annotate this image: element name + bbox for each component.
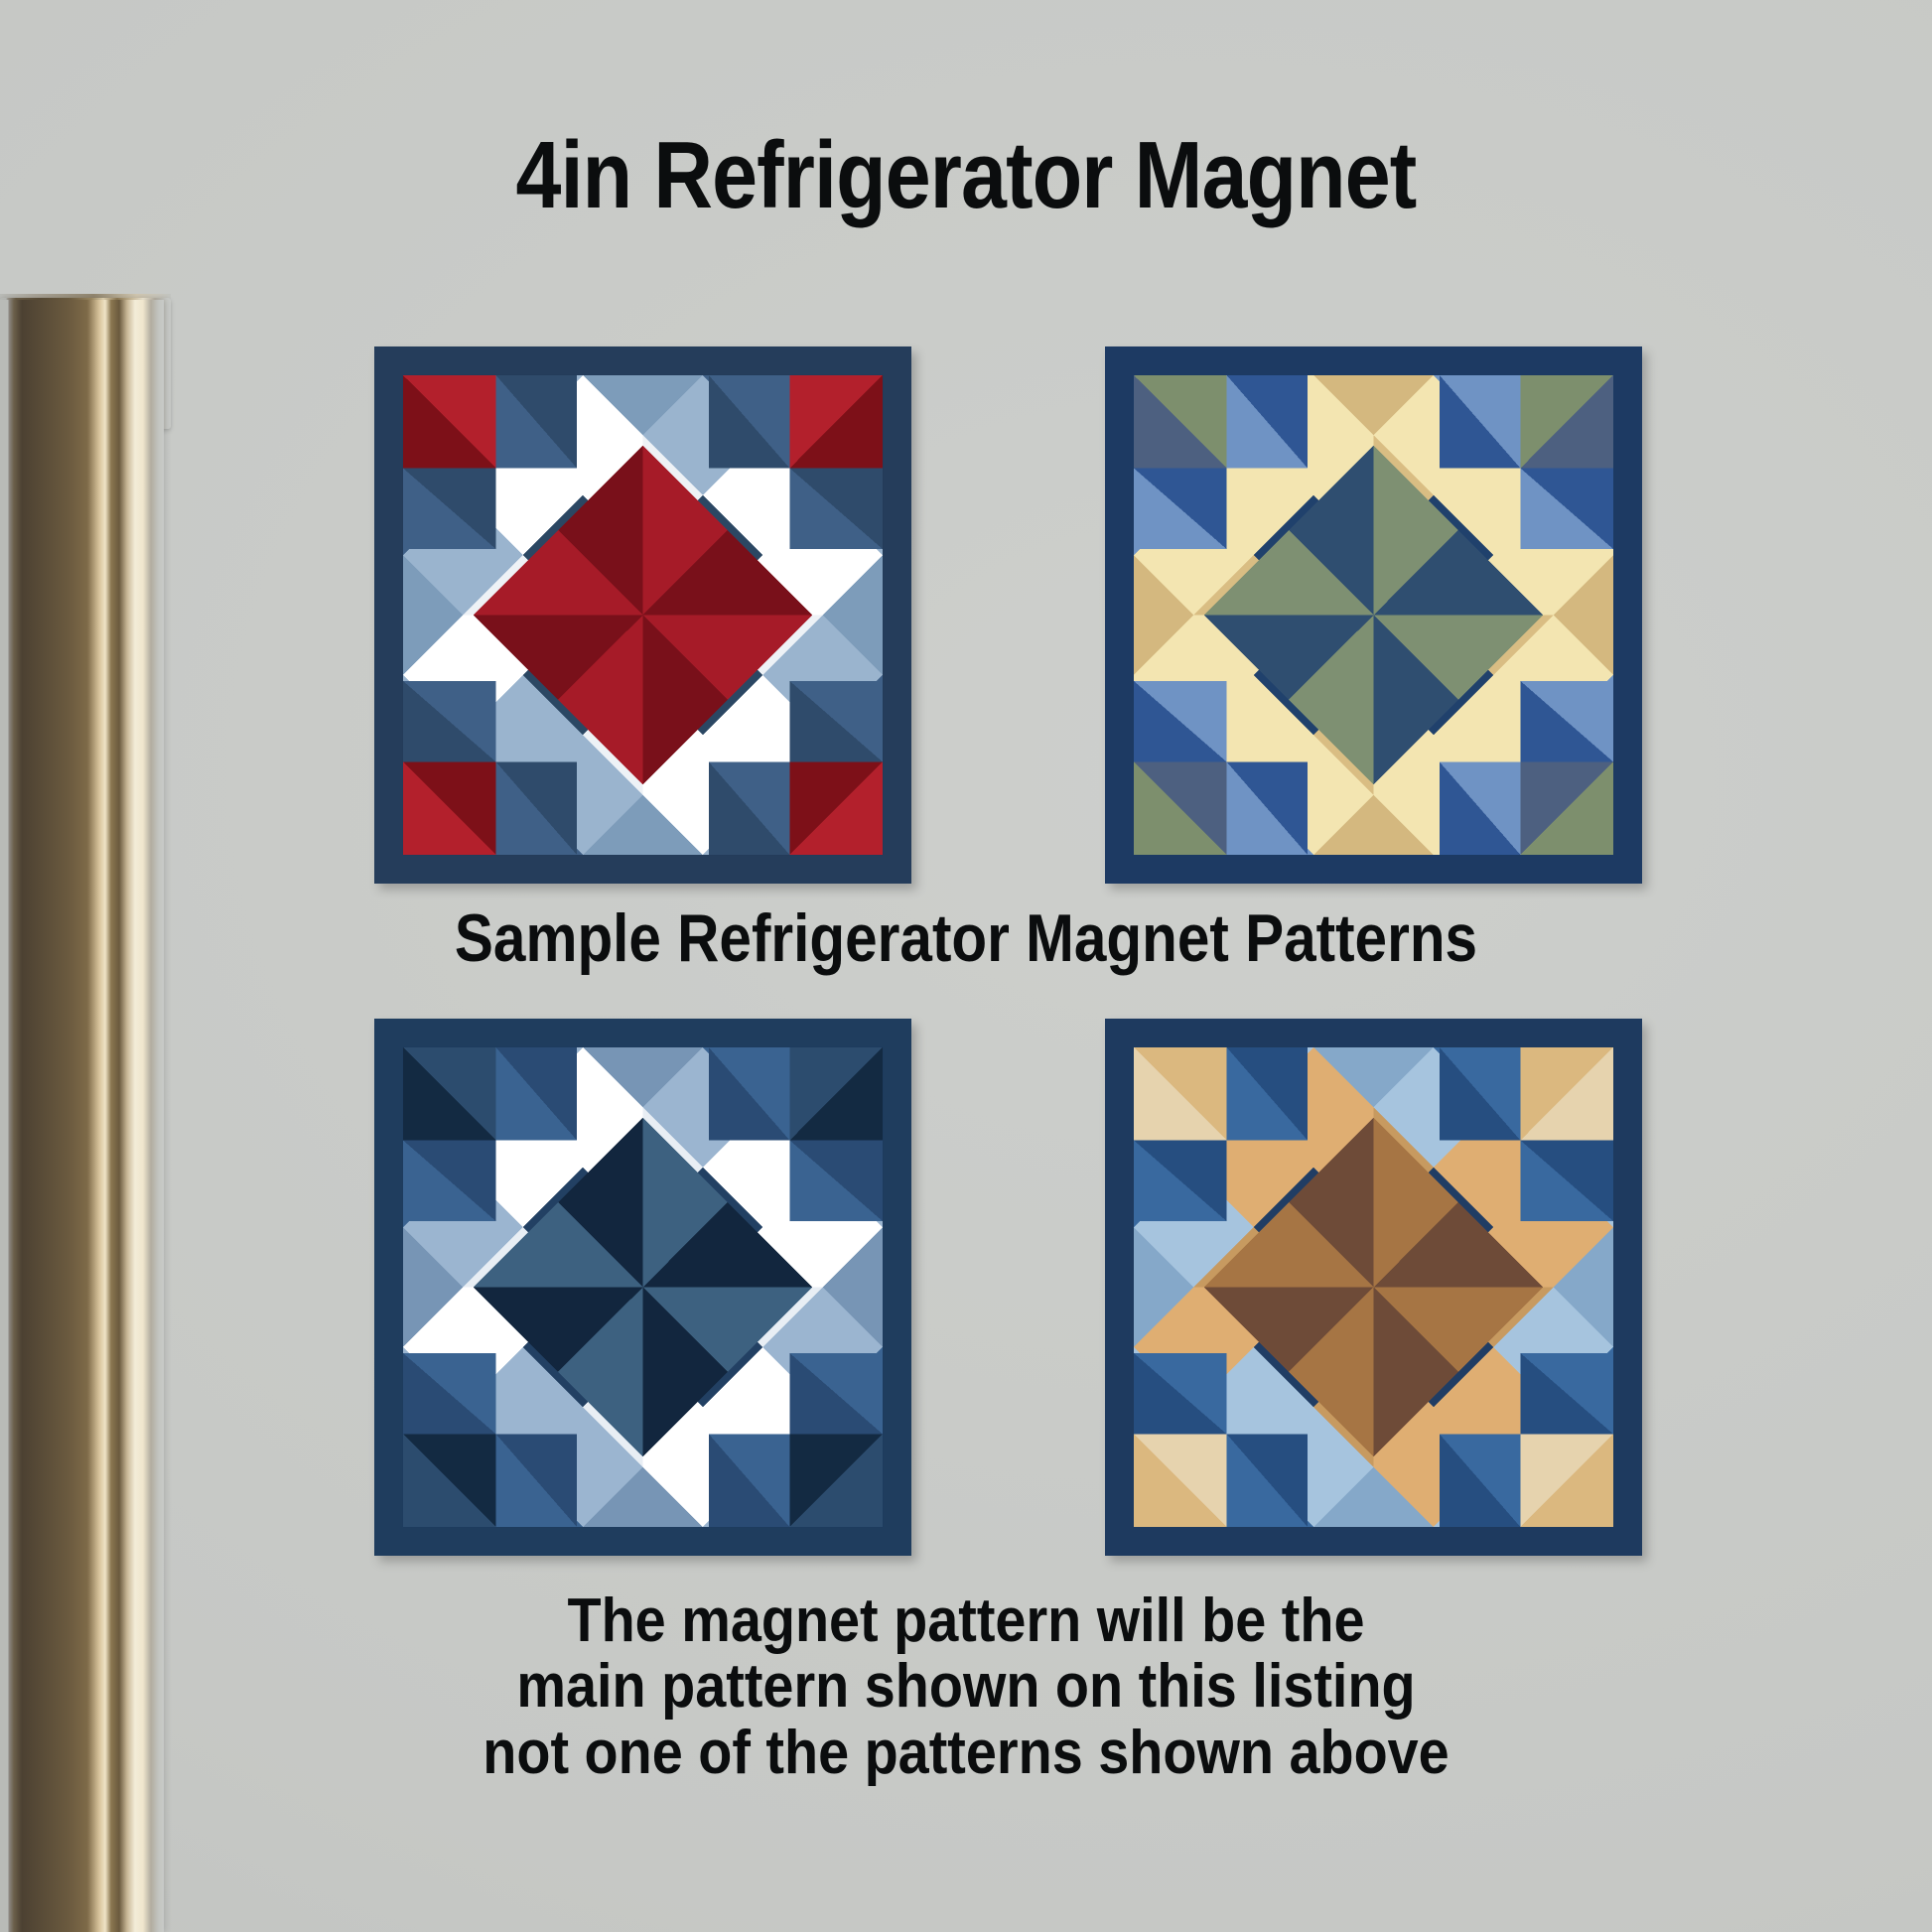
footer-disclaimer: The magnet pattern will be the main patt… [96,1588,1835,1786]
barn-quilt-tan-brown-blue [1105,1019,1642,1556]
footer-line-1: The magnet pattern will be the [96,1588,1835,1654]
page-title: 4in Refrigerator Magnet [135,121,1797,230]
footer-line-3: not one of the patterns shown above [96,1721,1835,1786]
barn-quilt-red-white-blue [374,346,911,884]
scene-background: 4in Refrigerator Magnet Sample Refrigera… [0,0,1932,1932]
sample-patterns-caption: Sample Refrigerator Magnet Patterns [135,899,1797,977]
barn-quilt-navy-white-blue [374,1019,911,1556]
barn-quilt-gold-sage-blue [1105,346,1642,884]
footer-line-2: main pattern shown on this listing [96,1654,1835,1720]
